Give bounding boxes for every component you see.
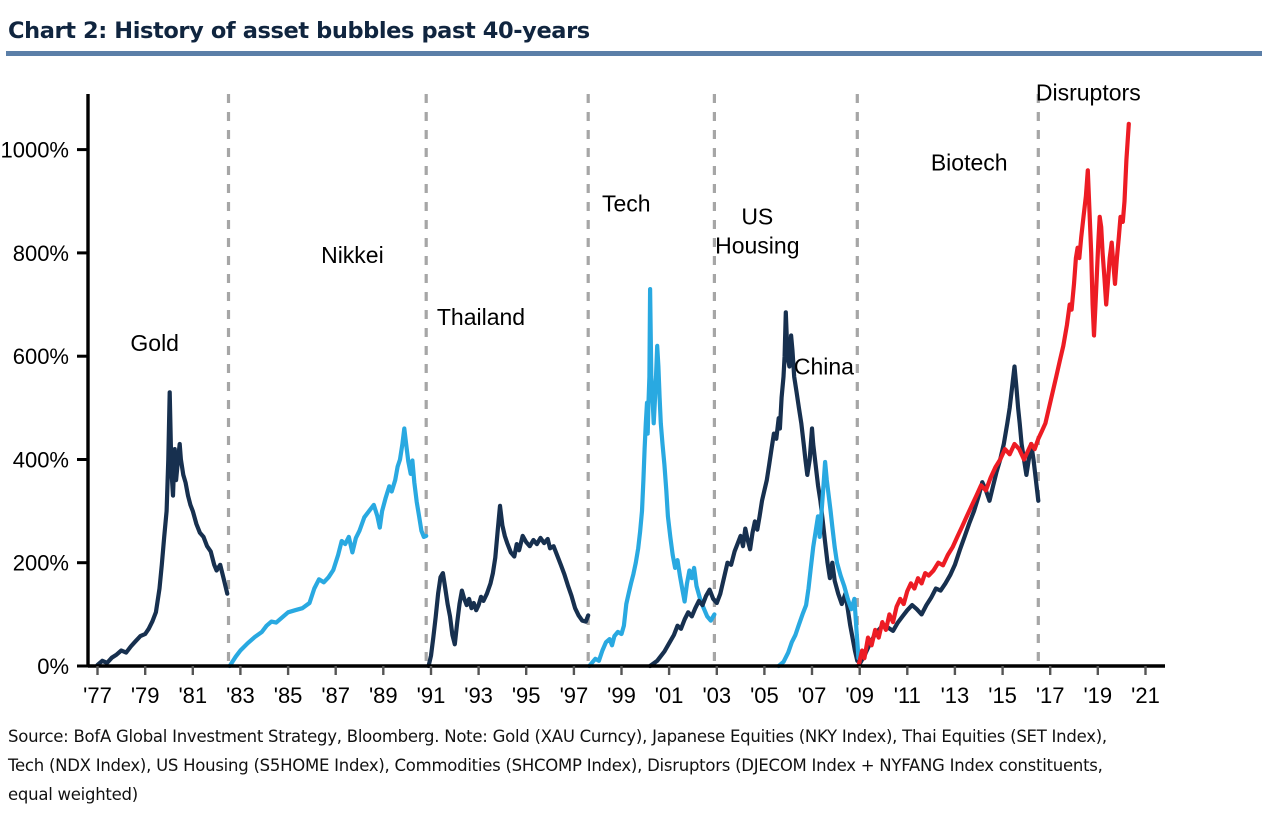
x-tick-label: '17 [1036, 683, 1065, 708]
x-tick-label: '89 [369, 683, 398, 708]
x-tick-label: '83 [226, 683, 255, 708]
bubble-label-disruptors: Disruptors [1036, 80, 1141, 106]
bubble-label-china: China [794, 353, 854, 379]
x-tick-labels-layer: '77'79'81'83'85'87'89'91'93'95'97'99'01'… [83, 666, 1160, 708]
series-line-gold [98, 392, 228, 665]
chart-plot-area: 0%200%400%600%800%1000% '77'79'81'83'85'… [0, 58, 1268, 718]
x-tick-label: '19 [1083, 683, 1112, 708]
bubble-label-gold: Gold [130, 330, 179, 356]
x-tick-label: '91 [417, 683, 446, 708]
title-underline-rule [6, 51, 1262, 56]
y-tick-label: 400% [13, 448, 69, 473]
source-line-1: Source: BofA Global Investment Strategy,… [8, 722, 1258, 751]
y-tick-label: 1000% [0, 138, 69, 163]
axes-layer [88, 94, 1165, 666]
x-tick-label: '79 [131, 683, 160, 708]
y-tick-label: 200% [13, 551, 69, 576]
x-tick-label: '87 [321, 683, 350, 708]
bubble-label-thailand: Thailand [437, 304, 525, 330]
source-line-2: Tech (NDX Index), US Housing (S5HOME Ind… [8, 751, 1258, 780]
y-tick-label: 800% [13, 241, 69, 266]
bubble-label-nikkei: Nikkei [321, 242, 384, 268]
x-tick-label: '15 [988, 683, 1017, 708]
bubble-label-tech: Tech [602, 191, 651, 217]
y-tick-labels-layer: 0%200%400%600%800%1000% [0, 138, 88, 679]
series-line-nikkei [230, 429, 427, 667]
chart-source-note: Source: BofA Global Investment Strategy,… [8, 722, 1258, 809]
y-tick-label: 600% [13, 344, 69, 369]
series-line-disruptors [859, 124, 1129, 666]
x-tick-label: '81 [178, 683, 207, 708]
series-line-thailand [429, 506, 589, 666]
source-line-3: equal weighted) [8, 780, 1258, 809]
asset-bubbles-line-chart: 0%200%400%600%800%1000% '77'79'81'83'85'… [0, 58, 1268, 718]
x-tick-label: '95 [512, 683, 541, 708]
bubble-label-biotech: Biotech [931, 149, 1008, 175]
x-tick-label: '21 [1131, 683, 1160, 708]
series-line-biotech [859, 367, 1039, 667]
x-tick-label: '77 [83, 683, 112, 708]
annotations-layer: GoldNikkeiThailandTechUSHousingChinaBiot… [130, 80, 1140, 380]
x-tick-label: '97 [560, 683, 589, 708]
page-title: Chart 2: History of asset bubbles past 4… [8, 18, 590, 44]
x-tick-label: '85 [274, 683, 303, 708]
bubble-label-us-housing: USHousing [715, 204, 799, 259]
x-tick-label: '93 [464, 683, 493, 708]
x-tick-label: '13 [941, 683, 970, 708]
x-tick-label: '07 [798, 683, 827, 708]
x-tick-label: '05 [750, 683, 779, 708]
x-tick-label: '01 [655, 683, 684, 708]
y-tick-label: 0% [37, 654, 69, 679]
x-tick-label: '11 [894, 683, 921, 708]
x-tick-label: '09 [845, 683, 874, 708]
x-tick-label: '99 [607, 683, 636, 708]
x-tick-label: '03 [702, 683, 731, 708]
chart-header: Chart 2: History of asset bubbles past 4… [0, 0, 1268, 58]
